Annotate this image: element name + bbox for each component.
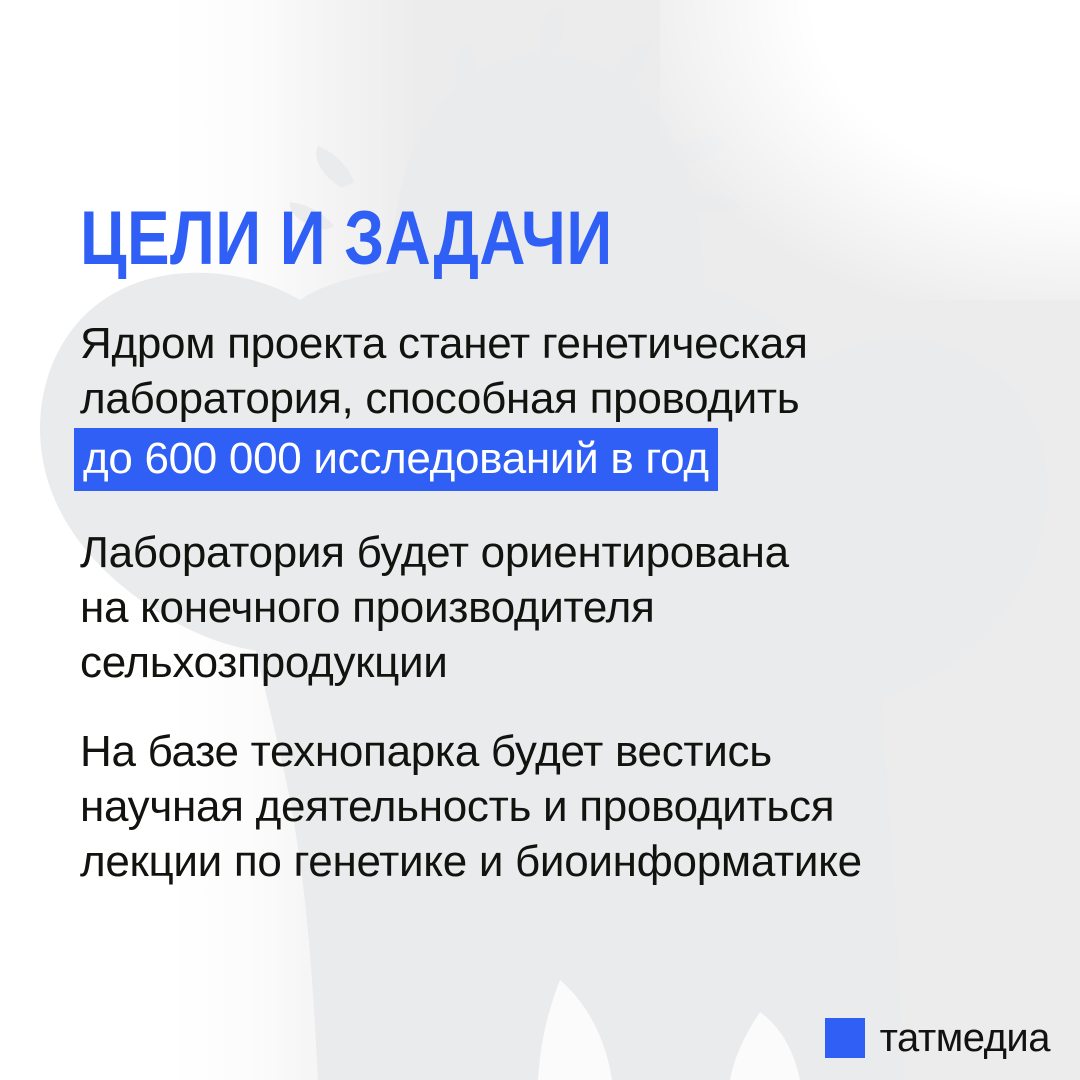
tatmedia-logo: татмедиа xyxy=(825,1018,1050,1058)
paragraph-2-line-2: на конечного производителя xyxy=(80,580,1020,635)
paragraph-1-line-1: Ядром проекта станет генетическая xyxy=(80,316,1020,371)
paragraph-3-line-1: На базе технопарка будет вестись xyxy=(80,724,1020,779)
paragraph-1-line-3-highlighted: до 600 000 исследований в год xyxy=(74,428,718,491)
page-title: ЦЕЛИ И ЗАДАЧИ xyxy=(80,200,613,278)
logo-wordmark: татмедиа xyxy=(880,1018,1050,1058)
blue-square-icon xyxy=(825,1018,865,1058)
paragraph-2-line-3: сельхозпродукции xyxy=(80,635,1020,690)
body-text-blocks: Ядром проекта станет генетическая лабора… xyxy=(80,316,1020,889)
paragraph-2: Лаборатория будет ориентирована на конеч… xyxy=(80,525,1020,690)
slide-content: ЦЕЛИ И ЗАДАЧИ Ядром проекта станет генет… xyxy=(0,0,1080,1080)
paragraph-1-line-2: лаборатория, способная проводить xyxy=(80,371,1020,426)
paragraph-3: На базе технопарка будет вестись научная… xyxy=(80,724,1020,889)
paragraph-2-line-1: Лаборатория будет ориентирована xyxy=(80,525,1020,580)
paragraph-3-line-2: научная деятельность и проводиться xyxy=(80,779,1020,834)
paragraph-3-line-3: лекции по генетике и биоинформатике xyxy=(80,834,1020,889)
paragraph-1: Ядром проекта станет генетическая лабора… xyxy=(80,316,1020,491)
slide-canvas: ЦЕЛИ И ЗАДАЧИ Ядром проекта станет генет… xyxy=(0,0,1080,1080)
